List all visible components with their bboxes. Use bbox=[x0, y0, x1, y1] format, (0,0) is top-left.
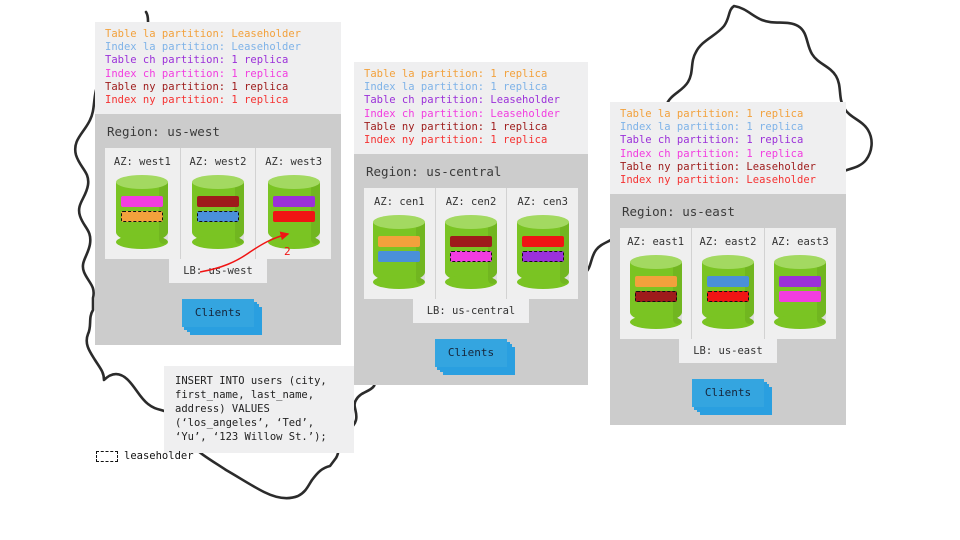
region-panel-us-east: Table la partition: 1 replica Index la p… bbox=[610, 102, 846, 425]
az-label-west1: AZ: west1 bbox=[105, 156, 180, 168]
leaseholder-swatch-icon bbox=[96, 451, 118, 462]
range-chips-west1 bbox=[121, 196, 163, 226]
config-line-table-ch: Table ch partition: Leaseholder bbox=[364, 94, 578, 107]
az-cell-west2[interactable]: AZ: west2 bbox=[180, 148, 256, 259]
lb-row-us-central: LB: us-central bbox=[354, 299, 588, 323]
region-panel-us-central: Table la partition: 1 replica Index la p… bbox=[354, 62, 588, 385]
config-line-index-ch: Index ch partition: 1 replica bbox=[105, 68, 331, 81]
az-label-cen3: AZ: cen3 bbox=[507, 196, 578, 208]
node-cylinder-west2[interactable] bbox=[192, 175, 244, 249]
lb-row-us-west: LB: us-west bbox=[95, 259, 341, 283]
range-chips-cen2 bbox=[450, 236, 492, 266]
az-cell-east1[interactable]: AZ: east1 bbox=[620, 228, 691, 339]
clients-stack-us-central[interactable]: Clients bbox=[435, 339, 507, 367]
range-chip-replica bbox=[273, 211, 315, 222]
az-label-west3: AZ: west3 bbox=[256, 156, 331, 168]
node-cylinder-cen3[interactable] bbox=[517, 215, 569, 289]
legend: leaseholder bbox=[96, 450, 194, 462]
config-line-index-la: Index la partition: Leaseholder bbox=[105, 41, 331, 54]
range-chip-leaseholder bbox=[635, 291, 677, 302]
az-cell-west1[interactable]: AZ: west1 bbox=[105, 148, 180, 259]
range-chip-replica bbox=[779, 291, 821, 302]
config-line-table-ch: Table ch partition: 1 replica bbox=[105, 54, 331, 67]
clients-stack-us-west[interactable]: Clients bbox=[182, 299, 254, 327]
region-body-us-east: Region: us-east AZ: east1 AZ: east2 bbox=[610, 194, 846, 425]
clients-row-us-east: Clients bbox=[610, 363, 846, 425]
config-box-us-central: Table la partition: 1 replica Index la p… bbox=[354, 62, 588, 154]
az-label-east3: AZ: east3 bbox=[765, 236, 836, 248]
legend-label: leaseholder bbox=[124, 450, 194, 462]
clients-stack-us-east[interactable]: Clients bbox=[692, 379, 764, 407]
config-line-table-ch: Table ch partition: 1 replica bbox=[620, 134, 836, 147]
az-strip-us-east: AZ: east1 AZ: east2 AZ: east3 bbox=[620, 228, 836, 339]
range-chip-replica bbox=[779, 276, 821, 287]
az-label-east2: AZ: east2 bbox=[692, 236, 763, 248]
az-cell-east3[interactable]: AZ: east3 bbox=[764, 228, 836, 339]
lb-row-us-east: LB: us-east bbox=[610, 339, 846, 363]
clients-button-us-east[interactable]: Clients bbox=[692, 379, 764, 407]
clients-row-us-central: Clients bbox=[354, 323, 588, 385]
range-chips-east3 bbox=[779, 276, 821, 306]
node-cylinder-east1[interactable] bbox=[630, 255, 682, 329]
config-line-index-ny: Index ny partition: Leaseholder bbox=[620, 174, 836, 187]
range-chips-cen1 bbox=[378, 236, 420, 266]
config-line-table-la: Table la partition: 1 replica bbox=[620, 108, 836, 121]
range-chip-leaseholder bbox=[197, 211, 239, 222]
config-line-table-la: Table la partition: 1 replica bbox=[364, 68, 578, 81]
range-chip-replica bbox=[197, 196, 239, 207]
az-strip-us-central: AZ: cen1 AZ: cen2 AZ: cen3 bbox=[364, 188, 578, 299]
annotation-arrow-label: 2 bbox=[284, 245, 291, 258]
az-cell-west3[interactable]: AZ: west3 bbox=[255, 148, 331, 259]
az-strip-us-west: AZ: west1 AZ: west2 AZ: west3 bbox=[105, 148, 331, 259]
range-chip-replica bbox=[522, 236, 564, 247]
load-balancer-us-east[interactable]: LB: us-east bbox=[679, 339, 777, 363]
range-chip-replica bbox=[450, 236, 492, 247]
config-line-table-ny: Table ny partition: 1 replica bbox=[105, 81, 331, 94]
config-line-table-ny: Table ny partition: Leaseholder bbox=[620, 161, 836, 174]
config-box-us-east: Table la partition: 1 replica Index la p… bbox=[610, 102, 846, 194]
region-title-us-east: Region: us-east bbox=[610, 194, 846, 228]
range-chip-replica bbox=[707, 276, 749, 287]
range-chips-east2 bbox=[707, 276, 749, 306]
config-line-table-ny: Table ny partition: 1 replica bbox=[364, 121, 578, 134]
range-chip-replica bbox=[635, 276, 677, 287]
config-box-us-west: Table la partition: Leaseholder Index la… bbox=[95, 22, 341, 114]
range-chip-replica bbox=[378, 251, 420, 262]
config-line-index-ny: Index ny partition: 1 replica bbox=[105, 94, 331, 107]
az-cell-cen3[interactable]: AZ: cen3 bbox=[506, 188, 578, 299]
node-cylinder-east3[interactable] bbox=[774, 255, 826, 329]
range-chips-west2 bbox=[197, 196, 239, 226]
range-chip-replica bbox=[121, 196, 163, 207]
config-line-index-la: Index la partition: 1 replica bbox=[620, 121, 836, 134]
az-cell-east2[interactable]: AZ: east2 bbox=[691, 228, 763, 339]
range-chips-east1 bbox=[635, 276, 677, 306]
az-label-west2: AZ: west2 bbox=[181, 156, 256, 168]
range-chip-leaseholder bbox=[522, 251, 564, 262]
node-cylinder-west1[interactable] bbox=[116, 175, 168, 249]
range-chip-replica bbox=[378, 236, 420, 247]
region-body-us-central: Region: us-central AZ: cen1 AZ: cen2 bbox=[354, 154, 588, 385]
region-body-us-west: Region: us-west AZ: west1 AZ: west2 bbox=[95, 114, 341, 345]
range-chip-leaseholder bbox=[707, 291, 749, 302]
config-line-index-ch: Index ch partition: Leaseholder bbox=[364, 108, 578, 121]
clients-button-us-central[interactable]: Clients bbox=[435, 339, 507, 367]
az-cell-cen2[interactable]: AZ: cen2 bbox=[435, 188, 507, 299]
region-panel-us-west: Table la partition: Leaseholder Index la… bbox=[95, 22, 341, 345]
range-chip-leaseholder bbox=[450, 251, 492, 262]
az-label-cen1: AZ: cen1 bbox=[364, 196, 435, 208]
config-line-table-la: Table la partition: Leaseholder bbox=[105, 28, 331, 41]
node-cylinder-east2[interactable] bbox=[702, 255, 754, 329]
range-chip-replica bbox=[273, 196, 315, 207]
node-cylinder-cen1[interactable] bbox=[373, 215, 425, 289]
region-title-us-central: Region: us-central bbox=[354, 154, 588, 188]
config-line-index-ch: Index ch partition: 1 replica bbox=[620, 148, 836, 161]
clients-button-us-west[interactable]: Clients bbox=[182, 299, 254, 327]
range-chip-leaseholder bbox=[121, 211, 163, 222]
node-cylinder-west3[interactable] bbox=[268, 175, 320, 249]
az-cell-cen1[interactable]: AZ: cen1 bbox=[364, 188, 435, 299]
node-cylinder-cen2[interactable] bbox=[445, 215, 497, 289]
sql-statement-box: INSERT INTO users (city, first_name, las… bbox=[164, 366, 354, 453]
load-balancer-us-west[interactable]: LB: us-west bbox=[169, 259, 267, 283]
region-title-us-west: Region: us-west bbox=[95, 114, 341, 148]
config-line-index-ny: Index ny partition: 1 replica bbox=[364, 134, 578, 147]
az-label-east1: AZ: east1 bbox=[620, 236, 691, 248]
range-chips-west3 bbox=[273, 196, 315, 226]
config-line-index-la: Index la partition: 1 replica bbox=[364, 81, 578, 94]
load-balancer-us-central[interactable]: LB: us-central bbox=[413, 299, 530, 323]
range-chips-cen3 bbox=[522, 236, 564, 266]
az-label-cen2: AZ: cen2 bbox=[436, 196, 507, 208]
clients-row-us-west: Clients bbox=[95, 283, 341, 345]
